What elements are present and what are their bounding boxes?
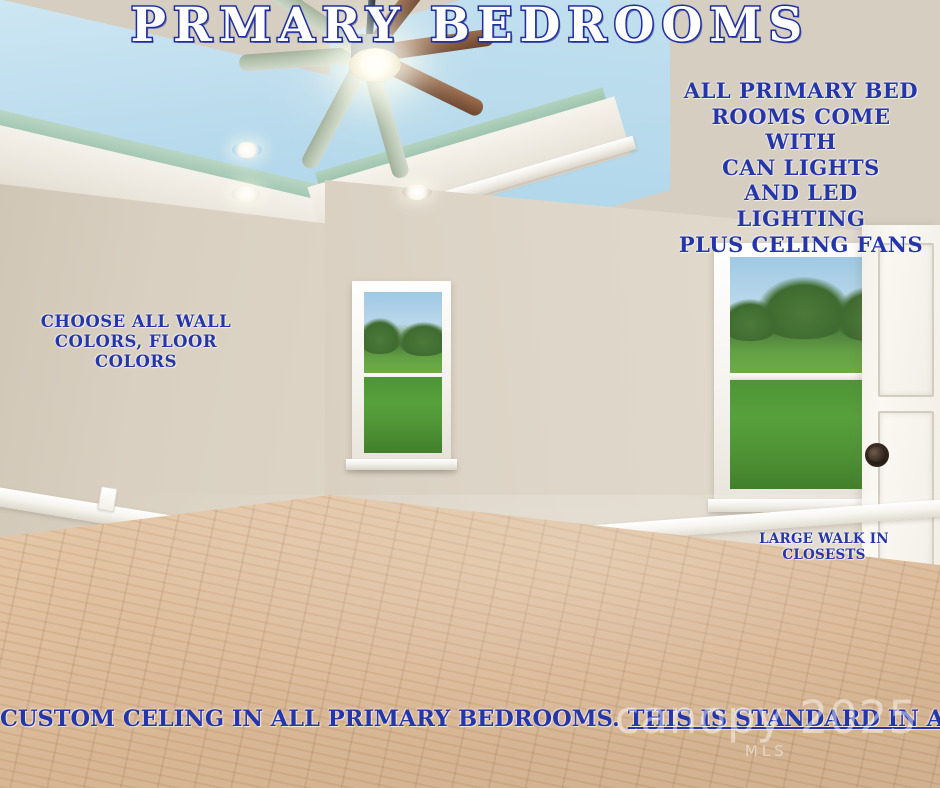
bottom-banner-part-2: THIS IS STANDARD IN ALL HOMES	[628, 706, 940, 732]
bottom-banner-part-1: CUSTOM CELING IN ALL PRIMARY BEDROOMS.	[0, 706, 628, 732]
left-window-lower-sash	[364, 377, 442, 453]
feature-note-lighting-line: PLUS CELING FANS	[676, 232, 926, 258]
page-title: PRMARY BEDROOMS	[0, 0, 940, 52]
door-knob-icon[interactable]	[868, 447, 885, 462]
tree-foliage	[730, 299, 780, 341]
bottom-banner: CUSTOM CELING IN ALL PRIMARY BEDROOMS. T…	[0, 706, 940, 733]
recessed-can-light	[402, 184, 432, 200]
feature-note-lighting-line: CAN LIGHTS	[676, 155, 926, 181]
door-panel	[878, 243, 934, 397]
feature-note-lighting-line: AND LED LIGHTING	[676, 180, 926, 231]
feature-note-lighting: ALL PRIMARY BED ROOMS COME WITH CAN LIGH…	[676, 78, 926, 257]
feature-note-colors: CHOOSE ALL WALL COLORS, FLOOR COLORS	[36, 312, 236, 372]
left-window	[352, 281, 451, 468]
feature-note-colors-line: CHOOSE ALL WALL	[36, 312, 236, 332]
feature-note-colors-line: COLORS	[36, 352, 236, 372]
feature-note-lighting-line: ROOMS COME WITH	[676, 104, 926, 155]
feature-note-closets: LARGE WALK IN CLOSESTS	[724, 531, 924, 564]
left-window-upper-sash	[364, 292, 442, 376]
tree-foliage	[364, 318, 402, 354]
tree-foliage	[398, 322, 442, 356]
listing-photo-canvas: PRMARY BEDROOMS ALL PRIMARY BED ROOMS CO…	[0, 0, 940, 788]
feature-note-colors-line: COLORS, FLOOR	[36, 332, 236, 352]
left-window-sill	[346, 459, 457, 470]
ceiling-fan-led-light	[349, 48, 401, 82]
feature-note-lighting-line: ALL PRIMARY BED	[676, 78, 926, 104]
recessed-can-light	[231, 186, 261, 202]
recessed-can-light	[232, 142, 262, 158]
left-window-glass	[364, 292, 442, 453]
